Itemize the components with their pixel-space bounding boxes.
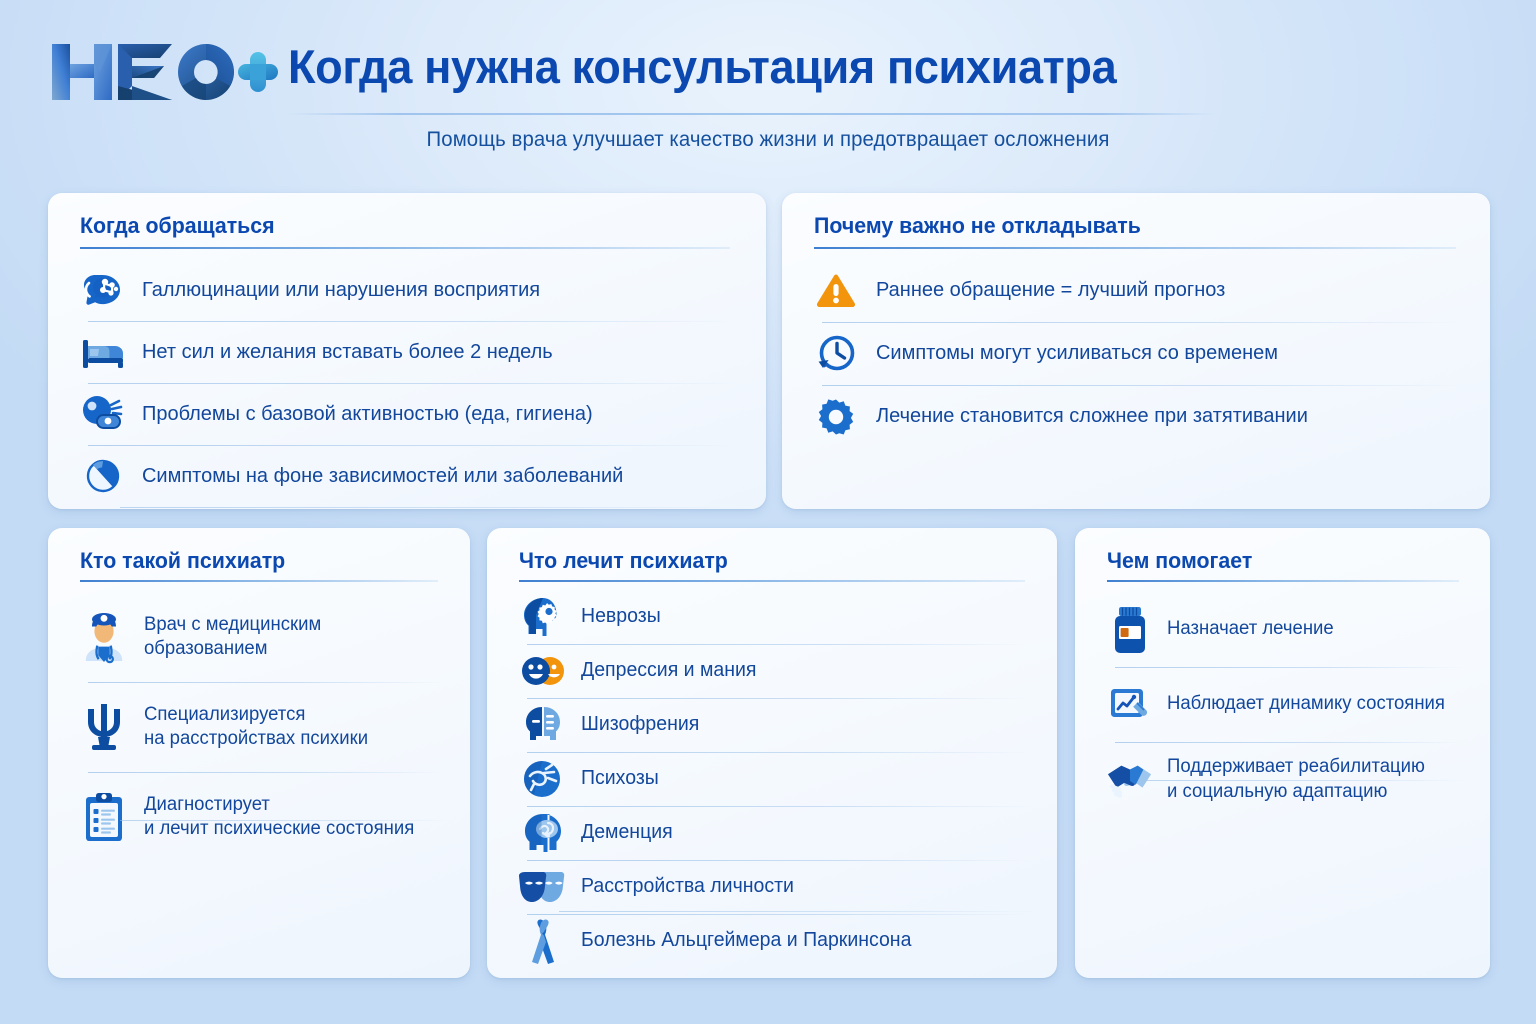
list-item-line1: Наблюдает динамику состояния <box>1167 693 1445 714</box>
list-item[interactable]: Врач с медицинским образованием <box>48 592 470 682</box>
psi-icon <box>80 701 128 753</box>
list-item-label: Депрессия и мания <box>581 658 756 684</box>
list-item[interactable]: Галлюцинации или нарушения восприятия <box>48 259 766 321</box>
split-head-icon <box>519 704 567 746</box>
card-what-psychiatrist-treats: Что лечит психиатр Неврозы <box>487 528 1057 978</box>
page-title: Когда нужна консультация психиатра <box>288 39 1116 94</box>
two-faces-icon <box>519 653 567 689</box>
card-title: Почему важно не откладывать <box>814 213 1141 239</box>
neo-plus-logo <box>48 36 280 108</box>
card-title: Кто такой психиатр <box>80 548 285 574</box>
card-how-helps: Чем помогает Назначает лечение <box>1075 528 1490 978</box>
medicine-bottle-icon <box>1107 605 1153 655</box>
clipboard-icon <box>80 791 128 843</box>
card-rows: Врач с медицинским образованием Специали… <box>48 592 470 862</box>
list-item-label: Наблюдает динамику состояния <box>1167 692 1445 716</box>
warning-triangle-icon <box>814 272 858 310</box>
gear-icon <box>814 397 858 437</box>
card-title-divider <box>1107 580 1459 582</box>
card-title-divider <box>80 580 438 582</box>
theatre-masks-icon <box>519 870 567 904</box>
list-item-line1: Врач с медицинским <box>144 614 321 635</box>
list-item[interactable]: Болезнь Альцгеймера и Паркинсона <box>487 914 1057 968</box>
list-item-line1: Диагностирует <box>144 794 270 815</box>
psychosis-icon <box>519 758 567 800</box>
list-item[interactable]: Назначает лечение <box>1075 592 1490 667</box>
list-item-line1: Поддерживает реабилитацию <box>1167 756 1425 777</box>
list-item-label: Лечение становится сложнее при затятиван… <box>876 403 1308 429</box>
card-rows: Назначает лечение Наблюдает динамику сос… <box>1075 592 1490 817</box>
card-why-not-delay: Почему важно не откладывать Раннее обращ… <box>782 193 1490 509</box>
row-divider <box>1147 780 1467 781</box>
list-item[interactable]: Лечение становится сложнее при затятиван… <box>782 385 1490 448</box>
list-item[interactable]: Шизофрения <box>487 698 1057 752</box>
list-item[interactable]: Деменция <box>487 806 1057 860</box>
card-title-divider <box>80 247 730 249</box>
card-title-divider <box>519 580 1025 582</box>
list-item-label: Болезнь Альцгеймера и Паркинсона <box>581 928 911 954</box>
card-rows: Галлюцинации или нарушения восприятия Не… <box>48 259 766 507</box>
list-item-label: Диагностирует и лечит психические состоя… <box>144 793 414 842</box>
card-when-to-seek-help: Когда обращаться <box>48 193 766 509</box>
ribbon-icon <box>519 918 567 964</box>
card-title-divider <box>814 247 1456 249</box>
list-item-line1: Специализируется <box>144 704 305 725</box>
list-item-line2: и лечит психические состояния <box>144 818 414 839</box>
card-title: Чем помогает <box>1107 548 1252 574</box>
list-item-label: Раннее обращение = лучший прогноз <box>876 277 1225 303</box>
pill-icon <box>80 454 126 498</box>
card-who-is-psychiatrist: Кто такой психиатр Врач с медицинским <box>48 528 470 978</box>
clock-icon <box>814 333 858 375</box>
list-item-label: Нет сил и желания вставать более 2 недел… <box>142 339 553 365</box>
card-title: Когда обращаться <box>80 213 275 239</box>
list-item[interactable]: Наблюдает динамику состояния <box>1075 667 1490 742</box>
list-item-line2: и социальную адаптацию <box>1167 781 1387 802</box>
list-item-line2: на расстройствах психики <box>144 728 368 749</box>
list-item-line2: образованием <box>144 638 267 659</box>
page-header: Когда нужна консультация психиатра Помощ… <box>0 0 1536 170</box>
list-item[interactable]: Диагностирует и лечит психические состоя… <box>48 772 470 862</box>
brain-icon <box>80 269 126 311</box>
list-item[interactable]: Депрессия и мания <box>487 644 1057 698</box>
list-item[interactable]: Нет сил и желания вставать более 2 недел… <box>48 321 766 383</box>
list-item-label: Симптомы могут усиливаться со временем <box>876 340 1278 366</box>
head-brain-icon <box>519 811 567 855</box>
list-item-line1: Назначает лечение <box>1167 618 1334 639</box>
doctor-icon <box>80 610 128 664</box>
list-item[interactable]: Психозы <box>487 752 1057 806</box>
list-item[interactable]: Симптомы на фоне зависимостей или заболе… <box>48 445 766 507</box>
list-item-label: Симптомы на фоне зависимостей или заболе… <box>142 463 623 489</box>
list-item-label: Психозы <box>581 766 659 792</box>
list-item-label: Деменция <box>581 820 673 846</box>
row-divider <box>559 911 1039 912</box>
row-divider <box>120 507 740 508</box>
list-item-label: Назначает лечение <box>1167 617 1334 641</box>
list-item[interactable]: Специализируется на расстройствах психик… <box>48 682 470 772</box>
list-item-label: Расстройства личности <box>581 874 794 900</box>
bed-icon <box>80 332 126 372</box>
title-divider <box>286 113 1216 115</box>
logo-icon <box>48 36 280 108</box>
list-item-label: Шизофрения <box>581 712 699 738</box>
list-item[interactable]: Проблемы с базовой активностью (еда, гиг… <box>48 383 766 445</box>
row-divider <box>120 820 450 821</box>
page-subtitle: Помощь врача улучшает качество жизни и п… <box>23 128 1513 152</box>
hygiene-icon <box>80 393 126 435</box>
list-item-label: Галлюцинации или нарушения восприятия <box>142 277 540 303</box>
list-item[interactable]: Неврозы <box>487 590 1057 644</box>
list-item-label: Неврозы <box>581 604 661 630</box>
card-rows: Раннее обращение = лучший прогноз Симпто… <box>782 259 1490 448</box>
list-item-label: Проблемы с базовой активностью (еда, гиг… <box>142 401 593 427</box>
list-item[interactable]: Симптомы могут усиливаться со временем <box>782 322 1490 385</box>
card-title: Что лечит психиатр <box>519 548 728 574</box>
list-item[interactable]: Раннее обращение = лучший прогноз <box>782 259 1490 322</box>
list-item-label: Врач с медицинским образованием <box>144 613 321 662</box>
chart-board-icon <box>1107 684 1153 726</box>
list-item[interactable]: Расстройства личности <box>487 860 1057 914</box>
list-item-label: Специализируется на расстройствах психик… <box>144 703 368 752</box>
head-gear-icon <box>519 595 567 639</box>
